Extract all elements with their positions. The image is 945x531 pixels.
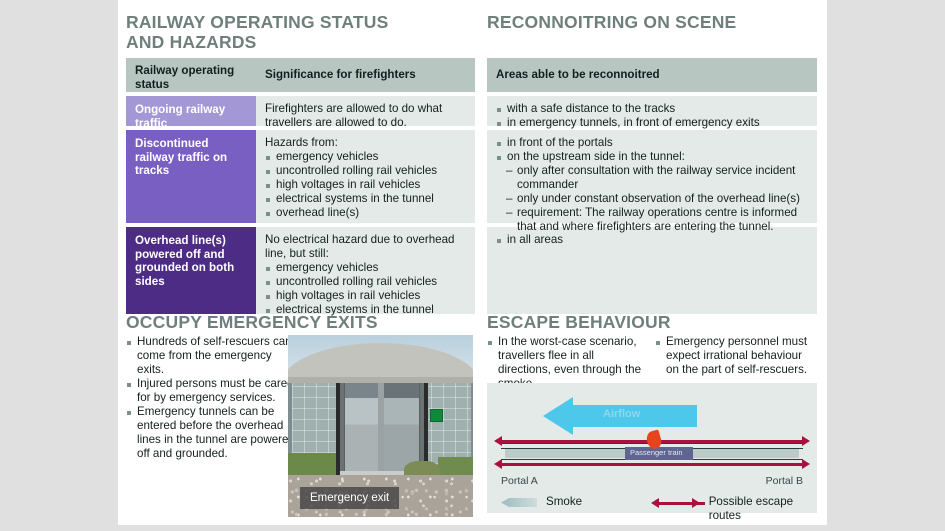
panel-railway-status: RAILWAY OPERATING STATUS AND HAZARDS Rai… (123, 0, 475, 305)
occupy-exits-list: Hundreds of self-rescuers can come from … (126, 335, 296, 461)
list-item: in all areas (496, 233, 809, 247)
emergency-exit-sign-icon (430, 409, 443, 422)
portal-a-label: Portal A (501, 475, 538, 487)
portal-b-label: Portal B (766, 475, 803, 487)
col-header-significance: Significance for firefighters (256, 58, 475, 92)
list-item: with a safe distance to the tracks (496, 102, 809, 116)
escape-list-right: Emergency personnel must expect irration… (655, 335, 813, 377)
status-overhead-off: Overhead line(s) powered off and grounde… (126, 227, 256, 314)
top-section: RAILWAY OPERATING STATUS AND HAZARDS Rai… (118, 0, 827, 305)
significance-intro: Firefighters are allowed to do what trav… (265, 102, 467, 130)
list-item: Hundreds of self-rescuers can come from … (126, 335, 296, 377)
list-item: Injured persons must be cared for by eme… (126, 377, 296, 405)
areas-list: in all areas (496, 233, 809, 247)
panel-title-occupy-exits: OCCUPY EMERGENCY EXITS (126, 312, 378, 332)
table-row: Discontinued railway traffic on tracks H… (126, 130, 478, 223)
list-item: in emergency tunnels, in front of emerge… (496, 116, 809, 130)
passenger-train: Passenger train (625, 447, 693, 460)
panel-title-escape-behaviour: ESCAPE BEHAVIOUR (487, 312, 671, 332)
photo-caption: Emergency exit (300, 487, 399, 509)
table-row: in front of the portals on the upstream … (487, 130, 825, 223)
status-ongoing: Ongoing railway traffic (126, 96, 256, 126)
significance-list: emergency vehicles uncontrolled rolling … (265, 150, 467, 220)
tunnel-schematic: Passenger train (501, 438, 803, 468)
list-item: in front of the portals (496, 136, 809, 150)
legend-item-smoke: Smoke (501, 495, 651, 523)
panel-occupy-exits: OCCUPY EMERGENCY EXITS Hundreds of self-… (123, 305, 475, 525)
panel-title-railway-status: RAILWAY OPERATING STATUS AND HAZARDS (126, 12, 466, 52)
railway-status-table: Railway operating status Significance fo… (126, 58, 478, 314)
areas-discontinued: in front of the portals on the upstream … (487, 130, 817, 223)
escape-route-arrow-icon (501, 463, 803, 466)
significance-ongoing: Firefighters are allowed to do what trav… (256, 96, 475, 126)
list-item: high voltages in rail vehicles (265, 178, 467, 192)
arrow-shaft (657, 502, 705, 505)
smoke-swatch-icon (501, 498, 537, 507)
list-item: emergency vehicles (265, 261, 467, 275)
table-row: Overhead line(s) powered off and grounde… (126, 227, 478, 314)
significance-intro: Hazards from: (265, 136, 467, 150)
areas-list: in front of the portals on the upstream … (496, 136, 809, 234)
areas-overhead-off: in all areas (487, 227, 817, 314)
col-header-areas: Areas able to be reconnoitred (487, 58, 817, 92)
poster-page: RAILWAY OPERATING STATUS AND HAZARDS Rai… (118, 0, 827, 525)
significance-overhead-off: No electrical hazard due to overhead lin… (256, 227, 475, 314)
status-discontinued: Discontinued railway traffic on tracks (126, 130, 256, 223)
list-item: electrical systems in the tunnel (265, 192, 467, 206)
panel-reconnoitring: RECONNOITRING ON SCENE Areas able to be … (484, 0, 822, 305)
list-item: uncontrolled rolling rail vehicles (265, 164, 467, 178)
sub-list-item: only under constant observation of the o… (507, 192, 809, 206)
list-item: high voltages in rail vehicles (265, 289, 467, 303)
col-header-status: Railway operating status (126, 58, 256, 92)
list-item: Emergency personnel must expect irration… (655, 335, 813, 377)
legend-label: Smoke (537, 495, 582, 509)
panel-title-reconnoitring: RECONNOITRING ON SCENE (487, 12, 817, 32)
reconnoitring-table: Areas able to be reconnoitred with a saf… (487, 58, 825, 314)
list-item: emergency vehicles (265, 150, 467, 164)
list-item-label: on the upstream side in the tunnel: (507, 150, 685, 163)
panel-escape-behaviour: ESCAPE BEHAVIOUR In the worst-case scena… (484, 305, 822, 525)
railway-title-line2: AND HAZARDS (126, 32, 466, 52)
areas-sublist: only after consultation with the railway… (507, 164, 809, 234)
table-row: in all areas (487, 227, 825, 314)
table-header-row: Areas able to be reconnoitred (487, 58, 825, 92)
areas-list: with a safe distance to the tracks in em… (496, 102, 809, 130)
bottom-section: OCCUPY EMERGENCY EXITS Hundreds of self-… (118, 305, 827, 525)
list-item: uncontrolled rolling rail vehicles (265, 275, 467, 289)
significance-intro: No electrical hazard due to overhead lin… (265, 233, 467, 261)
diagram-legend: Smoke Possible escape routes (501, 495, 806, 523)
sub-list-item: requirement: The railway operations cent… (507, 206, 809, 234)
list-item: on the upstream side in the tunnel: only… (496, 150, 809, 234)
train-label: Passenger train (630, 448, 683, 457)
areas-ongoing: with a safe distance to the tracks in em… (487, 96, 817, 126)
escape-arrow-icon (651, 497, 700, 509)
emergency-exit-photo: Emergency exit (288, 335, 473, 517)
sub-list-item: only after consultation with the railway… (507, 164, 809, 192)
significance-discontinued: Hazards from: emergency vehicles uncontr… (256, 130, 475, 223)
table-row: Ongoing railway traffic Firefighters are… (126, 96, 478, 126)
list-item: Emergency tunnels can be entered before … (126, 405, 296, 461)
legend-item-escape-routes: Possible escape routes (651, 495, 806, 523)
legend-label: Possible escape routes (700, 495, 806, 523)
airflow-label: Airflow (603, 408, 640, 420)
airflow-arrow-icon: Airflow (573, 405, 697, 427)
table-header-row: Railway operating status Significance fo… (126, 58, 478, 92)
table-row: with a safe distance to the tracks in em… (487, 96, 825, 126)
railway-title-line1: RAILWAY OPERATING STATUS (126, 12, 466, 32)
list-item: overhead line(s) (265, 206, 467, 220)
escape-diagram: Airflow Passenger train Portal A (487, 383, 817, 513)
